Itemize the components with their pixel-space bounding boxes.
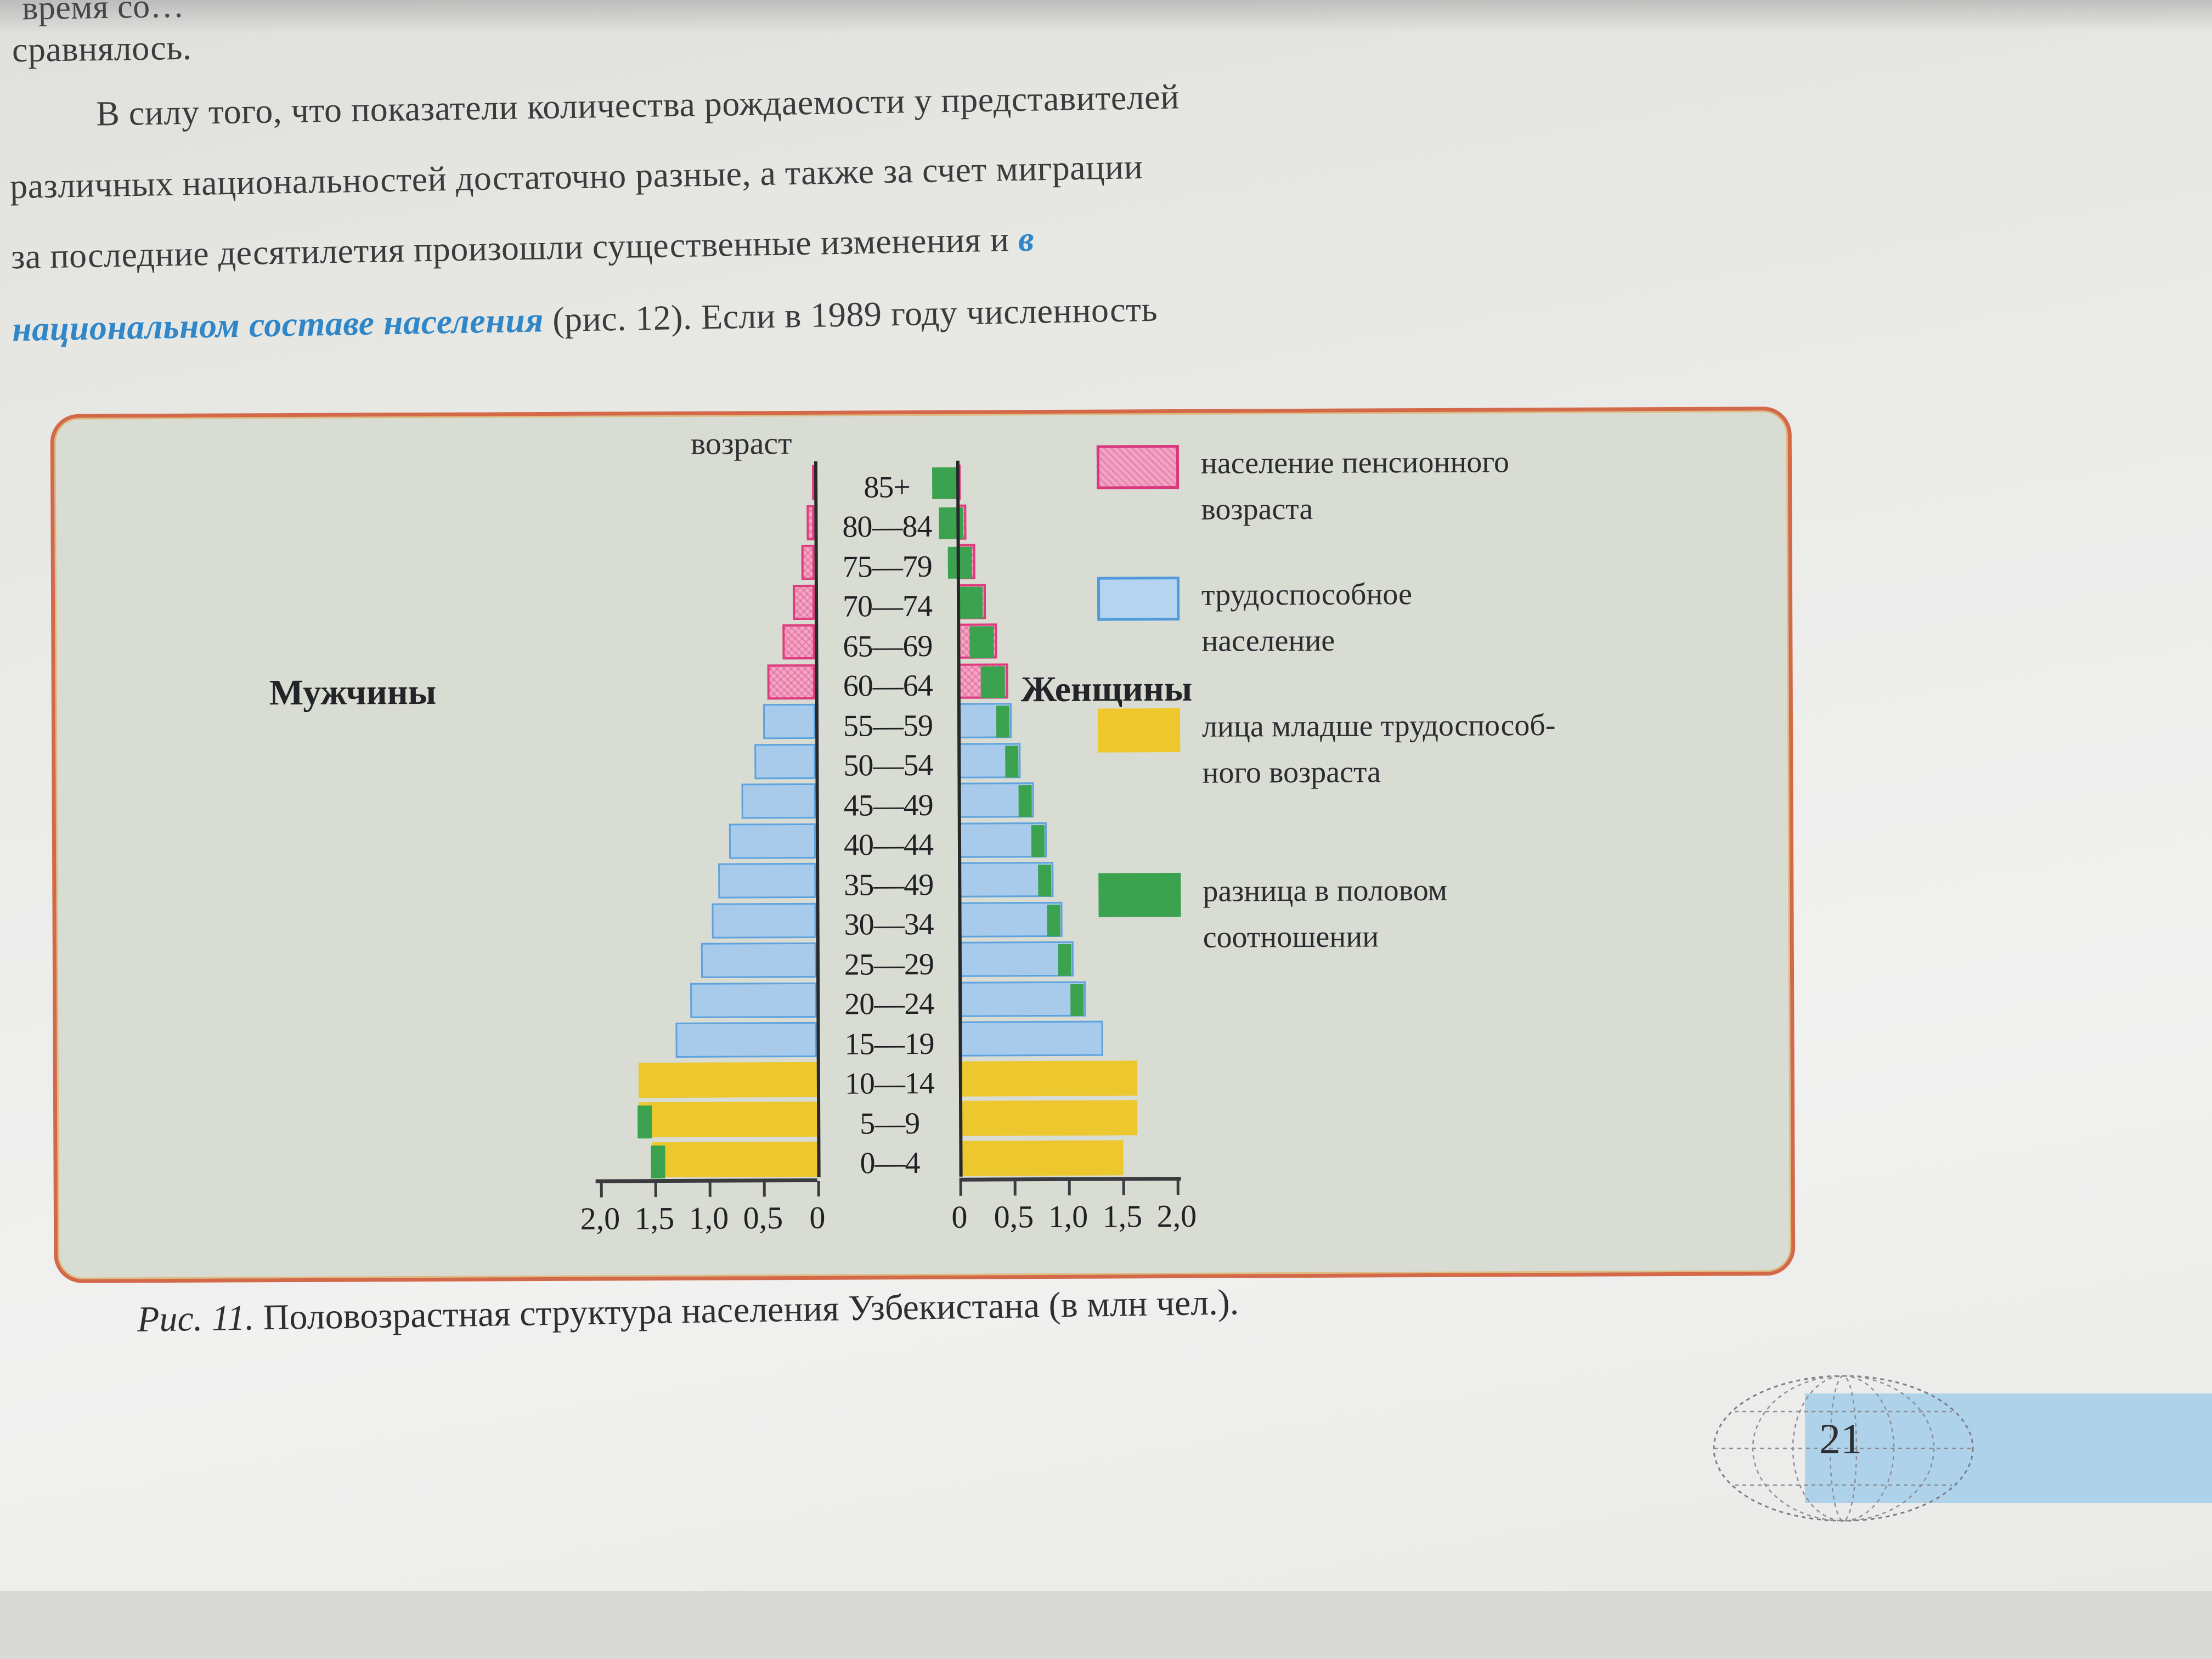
x-tick-left-4 (817, 1181, 820, 1197)
difference-marker-female-7 (1005, 746, 1018, 777)
highlight-term-1: в (1018, 219, 1034, 258)
x-tick-label-left-0: 2,0 (580, 1200, 620, 1237)
bar-male-12 (701, 943, 816, 978)
bar-male-9 (729, 823, 816, 859)
legend-label-difference-line1: разница в половом (1203, 866, 1757, 914)
x-tick-label-left-3: 0,5 (743, 1199, 783, 1236)
x-tick-label-right-3: 1,5 (1103, 1198, 1143, 1234)
legend-label-working-line1: трудоспособное (1201, 569, 1756, 618)
age-label-2: 75—79 (815, 544, 960, 590)
legend-label-working: трудоспособное население (1201, 569, 1756, 664)
bar-male-3 (793, 584, 815, 619)
bar-female-12 (958, 941, 1074, 977)
legend-label-young-line2: ного возраста (1202, 747, 1756, 795)
bar-male-4 (782, 624, 815, 659)
legend-label-pension: население пенсионного возраста (1201, 438, 1756, 532)
legend-swatch-working-icon (1097, 577, 1180, 621)
age-label-7: 50—54 (815, 743, 961, 788)
bar-male-14 (675, 1022, 817, 1058)
highlight-term-2: национальном составе населения (12, 300, 544, 348)
bar-female-16 (959, 1100, 1137, 1136)
bar-male-5 (767, 664, 815, 699)
legend-label-young-line1: лица младше трудоспособ- (1202, 701, 1756, 749)
bar-male-16 (639, 1102, 817, 1137)
difference-marker-female-5 (981, 666, 1005, 698)
legend-label-difference-line2: соотношении (1203, 912, 1757, 960)
age-label-0: 85+ (814, 465, 960, 510)
difference-marker-female-8 (1018, 785, 1031, 817)
x-tick-label-left-4: 0 (809, 1199, 825, 1236)
age-label-15: 10—14 (817, 1061, 962, 1107)
legend-item-difference: разница в половом соотношении (1098, 870, 1762, 873)
x-tick-left-2 (709, 1182, 712, 1197)
age-label-1: 80—84 (814, 504, 960, 550)
legend-swatch-pension-icon (1097, 445, 1179, 489)
x-tick-label-right-2: 1,0 (1048, 1198, 1088, 1235)
bar-male-1 (806, 505, 814, 540)
x-tick-label-right-1: 0,5 (994, 1198, 1034, 1235)
age-label-12: 25—29 (816, 942, 962, 988)
age-label-14: 15—19 (816, 1022, 962, 1067)
legend-label-working-line2: население (1201, 616, 1756, 664)
difference-marker-female-9 (1031, 825, 1045, 857)
page-number: 21 (1808, 1414, 1874, 1464)
legend-label-pension-line2: возраста (1201, 484, 1755, 532)
age-label-11: 30—34 (816, 902, 961, 947)
age-label-9: 40—44 (816, 822, 961, 868)
difference-marker-female-13 (1070, 984, 1084, 1015)
difference-marker-female-11 (1047, 904, 1060, 936)
difference-marker-female-10 (1038, 865, 1051, 896)
axis-title-age: возраст (691, 425, 792, 462)
legend-swatch-young-icon (1098, 708, 1180, 753)
label-women: Женщины (1021, 668, 1193, 710)
figure-caption-number: Рис. 11. (137, 1297, 255, 1339)
x-tick-right-1 (1014, 1180, 1017, 1195)
legend-item-pension: население пенсионного возраста (1097, 442, 1760, 445)
x-tick-label-left-2: 1,0 (689, 1200, 729, 1237)
body-line-1: сравнялось. (12, 27, 191, 71)
bar-male-2 (802, 545, 815, 580)
x-tick-right-4 (1177, 1180, 1180, 1195)
bar-male-6 (763, 704, 815, 739)
legend-item-working: трудоспособное население (1097, 574, 1761, 577)
x-tick-label-left-1: 1,5 (635, 1200, 675, 1237)
x-tick-left-1 (654, 1182, 657, 1197)
age-label-13: 20—24 (816, 981, 962, 1027)
age-label-6: 55—59 (815, 703, 961, 749)
age-label-3: 70—74 (815, 584, 960, 629)
x-tick-label-right-0: 0 (951, 1199, 967, 1235)
x-tick-left-3 (763, 1181, 766, 1197)
bar-female-15 (959, 1060, 1137, 1096)
age-label-16: 5—9 (817, 1101, 962, 1147)
bar-male-13 (690, 982, 816, 1018)
difference-marker-female-4 (970, 626, 994, 658)
x-tick-right-3 (1122, 1180, 1125, 1195)
chart-legend: население пенсионного возраста трудоспос… (1097, 442, 1760, 445)
bar-male-10 (718, 863, 816, 899)
bar-female-14 (958, 1021, 1103, 1057)
figure-frame: возраст Мужчины Женщины 85+80—8475—7970—… (50, 407, 1796, 1283)
x-tick-label-right-4: 2,0 (1157, 1198, 1197, 1234)
legend-label-pension-line1: население пенсионного (1201, 438, 1755, 486)
x-tick-right-2 (1068, 1180, 1071, 1195)
difference-marker-female-6 (996, 706, 1009, 737)
difference-marker-female-3 (958, 586, 983, 618)
age-label-5: 60—64 (815, 663, 961, 709)
legend-swatch-difference-icon (1098, 873, 1181, 917)
legend-label-difference: разница в половом соотношении (1203, 866, 1757, 960)
label-men: Мужчины (269, 672, 437, 714)
x-axis-line-left (596, 1178, 817, 1183)
bar-male-8 (742, 783, 816, 819)
age-label-10: 35—49 (816, 862, 961, 908)
bar-male-7 (754, 743, 815, 778)
x-tick-right-0 (960, 1181, 962, 1196)
bar-male-17 (652, 1141, 817, 1177)
age-label-column: 85+80—8475—7970—7465—6960—6455—5950—5445… (814, 461, 963, 1177)
population-pyramid-chart: возраст Мужчины Женщины 85+80—8475—7970—… (54, 410, 1792, 1279)
bar-female-13 (958, 981, 1086, 1017)
difference-marker-male-16 (637, 1105, 652, 1138)
legend-label-young: лица младше трудоспособ- ного возраста (1202, 701, 1757, 795)
bar-female-17 (959, 1140, 1123, 1176)
bar-male-15 (639, 1062, 817, 1097)
body-line-0: время со… (21, 0, 184, 28)
difference-marker-female-12 (1058, 944, 1071, 976)
bar-male-11 (712, 902, 816, 938)
legend-item-young: лица младше трудоспособ- ного возраста (1098, 706, 1762, 708)
x-tick-left-0 (600, 1182, 603, 1198)
age-label-8: 45—49 (816, 783, 961, 828)
difference-marker-male-17 (651, 1145, 665, 1178)
age-label-4: 65—69 (815, 624, 960, 669)
